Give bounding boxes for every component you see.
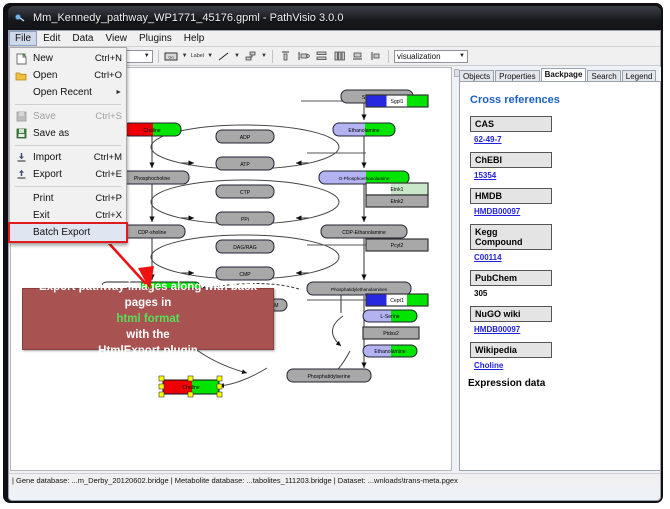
- node-phosphatidylethanolamines: Phosphatidylethanolamines: [307, 282, 411, 295]
- menu-file[interactable]: File: [9, 31, 37, 46]
- node-ctp: CTP: [216, 185, 274, 198]
- node-choline-selected: Choline: [159, 376, 222, 397]
- window-title: Mm_Kennedy_pathway_WP1771_45176.gpml - P…: [33, 12, 343, 24]
- callout-line-2-pre: pages in: [116, 295, 179, 311]
- line-icon[interactable]: [216, 49, 231, 64]
- xref-db-label: NuGO wiki: [470, 306, 552, 322]
- svg-text:Gn: Gn: [169, 54, 174, 59]
- menu-item-label: Import: [33, 152, 86, 163]
- callout-line-2: pages in html format with the: [116, 295, 179, 343]
- menu-item-export[interactable]: Export Ctrl+E: [10, 166, 126, 183]
- xref-db-label: Wikipedia: [470, 342, 552, 358]
- menu-data[interactable]: Data: [66, 31, 99, 46]
- blank-icon: [14, 86, 28, 99]
- menu-item-accel: Ctrl+N: [87, 53, 122, 64]
- import-icon: [14, 151, 28, 164]
- xref-db-label: HMDB: [470, 188, 552, 204]
- save-as-icon: [14, 127, 28, 140]
- node-dag: DAG/RAG: [216, 240, 274, 253]
- svg-text:Phosphocholine: Phosphocholine: [134, 176, 170, 182]
- distribute-icon[interactable]: [332, 49, 347, 64]
- toolbar-separator-2: [158, 50, 159, 63]
- toolbar-separator-4: [388, 50, 389, 63]
- gene-sgpl1: Sgpl1: [366, 95, 428, 107]
- menu-item-label: Save: [33, 111, 87, 122]
- callout-highlight: html format: [116, 311, 179, 327]
- chevron-down-icon: ▼: [142, 53, 150, 59]
- menu-item-label: Batch Export: [33, 227, 122, 238]
- svg-text:Ethanolamine: Ethanolamine: [374, 349, 405, 355]
- save-icon: [14, 110, 28, 123]
- node-o-phosphoethanolamine: O-Phosphoethanolamine: [319, 171, 409, 184]
- blank-icon-3: [14, 209, 28, 222]
- pathvisio-icon: [14, 12, 27, 25]
- svg-text:PPi: PPi: [241, 217, 249, 223]
- xref-hmdb: HMDB HMDB00097: [470, 188, 660, 216]
- xref-value-link[interactable]: Choline: [474, 361, 660, 370]
- menu-item-accel: Ctrl+E: [87, 169, 122, 180]
- xref-wikipedia: Wikipedia Choline: [470, 342, 660, 370]
- svg-text:L-Serine: L-Serine: [380, 314, 399, 320]
- label-dropdown-icon[interactable]: ▼: [207, 53, 213, 59]
- callout-line-1: Export pathway images along with back: [39, 279, 257, 295]
- xref-chebi: ChEBI 15354: [470, 152, 660, 180]
- align-left-icon[interactable]: [296, 49, 311, 64]
- folder-icon: [14, 69, 28, 82]
- align-top-icon[interactable]: [278, 49, 293, 64]
- xref-value-link[interactable]: HMDB00097: [474, 207, 660, 216]
- node-adp: ADP: [216, 130, 274, 143]
- svg-text:ADP: ADP: [240, 135, 251, 141]
- svg-text:Ethanolamine: Ethanolamine: [348, 128, 379, 134]
- svg-text:Choline: Choline: [143, 128, 160, 134]
- svg-text:Cept1: Cept1: [390, 298, 404, 304]
- export-icon: [14, 168, 28, 181]
- menu-view[interactable]: View: [99, 31, 133, 46]
- annotation-callout: Export pathway images along with back pa…: [22, 288, 274, 350]
- menu-item-batch-export[interactable]: Batch Export: [10, 224, 126, 241]
- xref-value-link[interactable]: 62-49-7: [474, 135, 660, 144]
- xref-kegg-compound: Kegg Compound C00114: [470, 224, 660, 262]
- ungroup-icon[interactable]: [368, 49, 383, 64]
- menu-item-accel: Ctrl+P: [87, 193, 122, 204]
- menu-item-exit[interactable]: Exit Ctrl+X: [10, 207, 126, 224]
- menu-separator-2: [15, 145, 121, 146]
- svg-text:Ptdss2: Ptdss2: [383, 331, 399, 337]
- xref-value-link[interactable]: HMDB00097: [474, 325, 660, 334]
- blank-icon-4: [14, 226, 28, 239]
- menu-separator: [15, 104, 121, 105]
- app-window: Mm_Kennedy_pathway_WP1771_45176.gpml - P…: [0, 0, 670, 509]
- backpage-content: Cross references CAS 62-49-7 ChEBI 15354…: [459, 81, 661, 471]
- side-panel: Objects Properties Backpage Search Legen…: [459, 67, 661, 471]
- svg-text:Choline: Choline: [182, 385, 199, 391]
- menu-item-accel: Ctrl+O: [86, 70, 122, 81]
- tab-backpage[interactable]: Backpage: [541, 68, 587, 82]
- svg-text:O-Phosphoethanolamine: O-Phosphoethanolamine: [339, 176, 390, 181]
- menu-item-accel: Ctrl+M: [86, 152, 122, 163]
- xref-pubchem: PubChem 305: [470, 270, 660, 298]
- interaction-icon[interactable]: [243, 49, 258, 64]
- node-cdp-choline: CDP-sholine: [119, 225, 185, 238]
- group-icon[interactable]: [350, 49, 365, 64]
- xref-nugo-wiki: NuGO wiki HMDB00097: [470, 306, 660, 334]
- menu-separator-3: [15, 186, 121, 187]
- svg-text:Sgpl1: Sgpl1: [390, 99, 403, 105]
- gene-etnk2: Etnk2: [366, 195, 428, 207]
- xref-cas: CAS 62-49-7: [470, 116, 660, 144]
- node-phosphatidylserine: Phosphatidylserine: [287, 369, 371, 382]
- xref-db-label: PubChem: [470, 270, 552, 286]
- menu-item-new[interactable]: New Ctrl+N: [10, 50, 126, 67]
- submenu-arrow-icon: ►: [115, 89, 122, 96]
- status-bar-text: | Gene database: ...m_Derby_20120602.bri…: [12, 476, 458, 485]
- toolbar-separator-3: [272, 50, 273, 63]
- menu-edit[interactable]: Edit: [37, 31, 66, 46]
- menu-item-label: Print: [33, 193, 87, 204]
- gene-cept1: Cept1: [366, 294, 428, 306]
- menu-item-save: Save Ctrl+S: [10, 108, 126, 125]
- expression-data-title: Expression data: [468, 378, 660, 389]
- xref-value-text: 305: [474, 289, 660, 298]
- status-bar: | Gene database: ...m_Derby_20120602.bri…: [9, 473, 660, 487]
- menu-plugins[interactable]: Plugins: [133, 31, 178, 46]
- xref-value-link[interactable]: C00114: [474, 253, 660, 262]
- side-panel-tabs: Objects Properties Backpage Search Legen…: [459, 67, 661, 82]
- svg-text:Phosphatidylserine: Phosphatidylserine: [307, 374, 350, 380]
- svg-text:Pcyt2: Pcyt2: [391, 243, 404, 249]
- node-atp: ATP: [216, 157, 274, 170]
- menu-item-label: Exit: [33, 210, 87, 221]
- node-l-serine: L-Serine: [363, 310, 417, 322]
- visualization-value: visualization: [397, 52, 457, 61]
- datanode-dropdown-icon[interactable]: ▼: [182, 53, 188, 59]
- chevron-down-icon-2: ▼: [457, 53, 465, 59]
- svg-text:CDP-sholine: CDP-sholine: [138, 230, 167, 236]
- visualization-combobox[interactable]: visualization ▼: [394, 50, 468, 63]
- svg-text:CMP: CMP: [239, 272, 251, 278]
- menu-item-label: Open Recent: [33, 87, 115, 98]
- node-cdp-ethanolamine: CDP-Ethanolamine: [321, 225, 407, 238]
- menu-item-open[interactable]: Open Ctrl+O: [10, 67, 126, 84]
- node-choline-top: Choline: [123, 123, 181, 136]
- stack-icon[interactable]: [314, 49, 329, 64]
- xref-value-link[interactable]: 15354: [474, 171, 660, 180]
- menu-item-print[interactable]: Print Ctrl+P: [10, 190, 126, 207]
- svg-text:ATP: ATP: [240, 162, 250, 168]
- menu-item-label: Save as: [33, 128, 114, 139]
- cross-references-title: Cross references: [470, 94, 660, 106]
- file-menu-popup[interactable]: New Ctrl+N Open Ctrl+O Open Recent ► Sav…: [9, 47, 127, 244]
- node-ethanolamine-2: Ethanolamine: [363, 345, 417, 357]
- menu-item-accel: Ctrl+S: [87, 111, 122, 122]
- svg-text:CDP-Ethanolamine: CDP-Ethanolamine: [342, 230, 386, 236]
- line-dropdown-icon[interactable]: ▼: [234, 53, 240, 59]
- node-ppi: PPi: [216, 212, 274, 225]
- xref-db-label: Kegg Compound: [470, 224, 552, 250]
- menu-item-open-recent[interactable]: Open Recent ►: [10, 84, 126, 101]
- gene-etnk1: Etnk1: [366, 183, 428, 195]
- interaction-dropdown-icon[interactable]: ▼: [261, 53, 267, 59]
- menu-item-label: Open: [33, 70, 86, 81]
- menu-item-import[interactable]: Import Ctrl+M: [10, 149, 126, 166]
- title-bar: Mm_Kennedy_pathway_WP1771_45176.gpml - P…: [8, 6, 661, 30]
- blank-icon-2: [14, 192, 28, 205]
- xref-db-label: CAS: [470, 116, 552, 132]
- svg-text:CTP: CTP: [240, 190, 251, 196]
- xref-db-label: ChEBI: [470, 152, 552, 168]
- node-ethanolamine: Ethanolamine: [333, 123, 395, 136]
- svg-text:Etnk2: Etnk2: [390, 199, 403, 205]
- datanode-icon[interactable]: Gn: [164, 49, 179, 64]
- menu-item-accel: Ctrl+X: [87, 210, 122, 221]
- menu-item-label: New: [33, 53, 87, 64]
- callout-line-3: HtmlExport plugin: [98, 343, 198, 359]
- menu-item-save-as[interactable]: Save as: [10, 125, 126, 142]
- gene-pcyt2: Pcyt2: [366, 239, 428, 251]
- svg-text:Phosphatidylethanolamines: Phosphatidylethanolamines: [331, 287, 388, 292]
- gene-ptdss2: Ptdss2: [363, 327, 419, 339]
- menu-bar: File Edit Data View Plugins Help: [9, 31, 660, 47]
- menu-help[interactable]: Help: [178, 31, 211, 46]
- new-file-icon: [14, 52, 28, 65]
- svg-text:DAG/RAG: DAG/RAG: [233, 245, 257, 251]
- menu-item-label: Export: [33, 169, 87, 180]
- label-tool-label[interactable]: Label: [191, 53, 204, 59]
- callout-line-2-post: with the: [116, 327, 179, 343]
- svg-text:Etnk1: Etnk1: [390, 187, 403, 193]
